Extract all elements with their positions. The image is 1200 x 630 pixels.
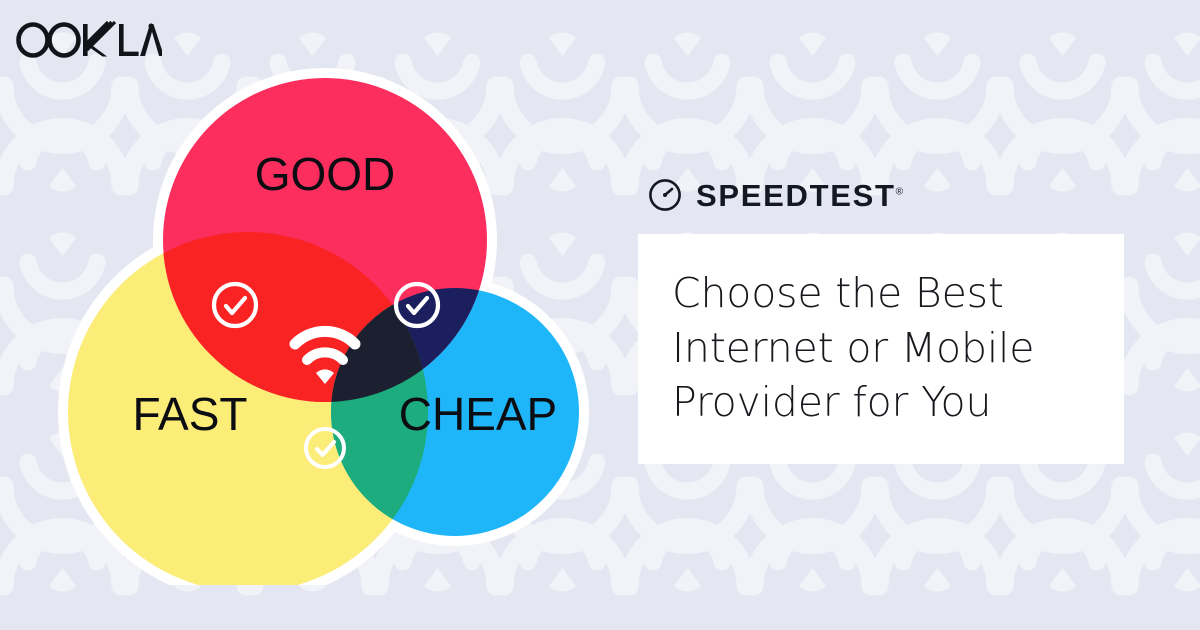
headline-card: Choose the Best Internet or Mobile Provi… xyxy=(638,234,1124,464)
venn-diagram: GOOD FAST CHEAP xyxy=(40,55,620,585)
venn-label-good: GOOD xyxy=(255,148,396,200)
page-title: Choose the Best Internet or Mobile Provi… xyxy=(672,266,1090,430)
ookla-letter-k xyxy=(83,22,115,57)
promo-banner: GOOD FAST CHEAP xyxy=(0,0,1200,630)
ookla-letter-o1 xyxy=(19,25,48,56)
headline-line-3: Provider for You xyxy=(672,375,1090,430)
ookla-letter-a xyxy=(140,24,162,56)
right-content-column: SPEEDTEST® Choose the Best Internet or M… xyxy=(638,172,1124,464)
speedometer-gauge-icon xyxy=(648,178,682,212)
ookla-letter-l xyxy=(119,24,139,56)
speedtest-registered-mark: ® xyxy=(896,186,903,197)
headline-line-2: Internet or Mobile xyxy=(672,321,1090,376)
speedtest-logo[interactable]: SPEEDTEST® xyxy=(648,172,1124,218)
venn-label-fast: FAST xyxy=(132,388,247,440)
ookla-letter-o2 xyxy=(50,25,79,56)
speedtest-wordmark-text: SPEEDTEST xyxy=(696,178,896,213)
venn-label-cheap: CHEAP xyxy=(399,388,557,440)
speedtest-wordmark: SPEEDTEST® xyxy=(696,180,903,211)
headline-line-1: Choose the Best xyxy=(672,266,1090,321)
